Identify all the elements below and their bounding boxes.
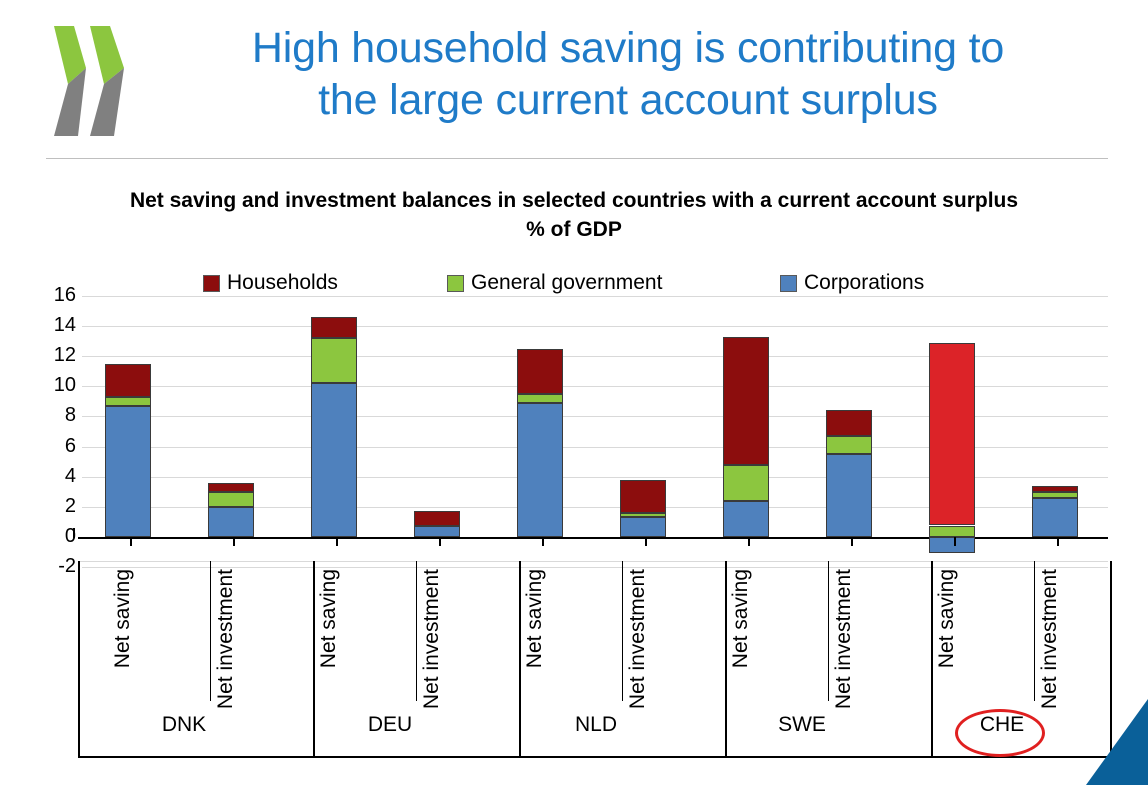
bar-segment-households	[517, 349, 563, 394]
country-label-swe: SWE	[762, 714, 842, 736]
bar-dnk-net-saving[interactable]	[105, 284, 151, 579]
country-label-dnk: DNK	[144, 714, 224, 736]
bar-segment-general-government	[826, 436, 872, 454]
axis-label-net-investment: Net investment	[421, 569, 442, 709]
double-chevron-logo	[38, 22, 134, 140]
bar-segment-general-government	[620, 513, 666, 518]
bar-segment-corporations	[311, 383, 357, 537]
bar-segment-general-government	[929, 526, 975, 537]
y-axis-tick-label: 10	[32, 375, 76, 395]
bar-nld-net-investment[interactable]	[620, 284, 666, 579]
bar-segment-corporations	[826, 454, 872, 537]
x-axis-tick	[233, 537, 235, 546]
x-axis-tick	[1057, 537, 1059, 546]
axis-label-net-saving: Net saving	[936, 569, 957, 668]
bar-segment-corporations	[208, 507, 254, 537]
y-axis-tick-label: 0	[32, 526, 76, 546]
x-axis-tick	[851, 537, 853, 546]
measure-separator	[828, 561, 829, 701]
chart-container: HouseholdsGeneral governmentCorporations…	[0, 266, 1148, 785]
x-axis-tick	[748, 537, 750, 546]
bar-segment-households	[1032, 486, 1078, 492]
y-axis-tick-label: 4	[32, 466, 76, 486]
bar-segment-corporations	[1032, 498, 1078, 537]
axis-label-net-investment: Net investment	[215, 569, 236, 709]
country-separator	[931, 561, 933, 756]
axis-label-net-investment: Net investment	[1039, 569, 1060, 709]
bar-segment-general-government	[208, 492, 254, 507]
chart-title: Net saving and investment balances in se…	[24, 186, 1124, 244]
x-axis-tick	[130, 537, 132, 546]
measure-separator	[210, 561, 211, 701]
bar-segment-households	[208, 483, 254, 492]
bar-segment-corporations	[105, 406, 151, 537]
bar-segment-corporations	[414, 526, 460, 537]
bar-segment-general-government	[723, 465, 769, 501]
bar-segment-households	[929, 343, 975, 526]
country-separator	[725, 561, 727, 756]
bar-segment-general-government	[517, 394, 563, 403]
page-title: High household saving is contributing to…	[148, 22, 1108, 126]
bar-segment-households	[723, 337, 769, 465]
country-separator	[313, 561, 315, 756]
bar-segment-corporations	[929, 537, 975, 554]
chart-title-line1: Net saving and investment balances in se…	[24, 186, 1124, 215]
y-axis-tick-label: 16	[32, 285, 76, 305]
plot-area	[82, 284, 1108, 579]
bar-deu-net-investment[interactable]	[414, 284, 460, 579]
y-axis-tick-label: 12	[32, 345, 76, 365]
x-axis-tick	[439, 537, 441, 546]
y-axis-stub	[73, 528, 75, 538]
x-axis-tick	[645, 537, 647, 546]
bar-segment-households	[105, 364, 151, 397]
che-highlight-ellipse	[955, 709, 1045, 757]
slide-title-line1: High household saving is contributing to	[252, 24, 1004, 72]
slide-title: High household saving is contributing to…	[148, 22, 1108, 126]
axis-label-net-investment: Net investment	[627, 569, 648, 709]
country-separator	[519, 561, 521, 756]
y-axis-tick-label: 8	[32, 405, 76, 425]
y-axis: 1614121086420-2	[18, 284, 76, 579]
bar-nld-net-saving[interactable]	[517, 284, 563, 579]
bar-segment-corporations	[517, 403, 563, 537]
y-axis-tick-label: 2	[32, 496, 76, 516]
bar-che-net-investment[interactable]	[1032, 284, 1078, 579]
x-axis-tick	[336, 537, 338, 546]
bar-swe-net-investment[interactable]	[826, 284, 872, 579]
slide-header: High household saving is contributing to…	[0, 0, 1148, 168]
bar-segment-corporations	[620, 517, 666, 537]
y-axis-tick-label: 14	[32, 315, 76, 335]
header-divider	[46, 158, 1108, 159]
axis-label-net-saving: Net saving	[318, 569, 339, 668]
bar-swe-net-saving[interactable]	[723, 284, 769, 579]
bar-segment-general-government	[105, 397, 151, 406]
country-label-deu: DEU	[350, 714, 430, 736]
bar-segment-households	[414, 511, 460, 526]
x-axis-tick	[542, 537, 544, 546]
bar-segment-households	[311, 317, 357, 338]
x-axis-tick	[954, 537, 956, 546]
axis-label-net-saving: Net saving	[112, 569, 133, 668]
bar-dnk-net-investment[interactable]	[208, 284, 254, 579]
chart-title-line2: % of GDP	[24, 215, 1124, 244]
bar-segment-general-government	[1032, 492, 1078, 497]
measure-separator	[416, 561, 417, 701]
measure-separator	[1034, 561, 1035, 701]
y-axis-tick-label: 6	[32, 436, 76, 456]
corner-triangle-decoration	[1086, 699, 1148, 785]
axis-label-net-saving: Net saving	[524, 569, 545, 668]
bar-segment-households	[826, 410, 872, 436]
slide-title-line2: the large current account surplus	[318, 76, 938, 124]
measure-separator	[622, 561, 623, 701]
bar-che-net-saving[interactable]	[929, 284, 975, 579]
bar-segment-general-government	[311, 338, 357, 383]
bar-segment-corporations	[723, 501, 769, 537]
country-label-nld: NLD	[556, 714, 636, 736]
bar-segment-households	[620, 480, 666, 513]
logo-svg	[38, 22, 134, 140]
y-axis-tick-label: -2	[32, 556, 76, 576]
bar-deu-net-saving[interactable]	[311, 284, 357, 579]
axis-label-net-saving: Net saving	[730, 569, 751, 668]
axis-label-net-investment: Net investment	[833, 569, 854, 709]
